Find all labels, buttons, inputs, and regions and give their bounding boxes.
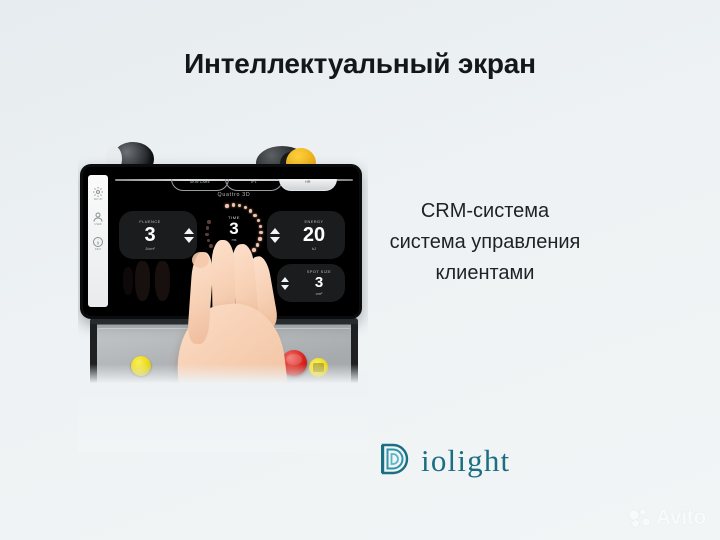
fluence-stepper[interactable] xyxy=(181,228,197,243)
dial-dot xyxy=(232,203,235,206)
screen-sidebar: SETUP USER INFO xyxy=(88,175,108,307)
info-icon[interactable]: INFO xyxy=(92,236,104,248)
page-title: Интеллектуальный экран xyxy=(0,48,720,80)
tab-skin-care[interactable]: SKIN CARE xyxy=(171,179,229,191)
user-icon-label: USER xyxy=(94,223,101,226)
photo-fade-bottom xyxy=(78,364,368,452)
chevron-up-icon[interactable] xyxy=(270,228,280,234)
dial-dot xyxy=(225,204,228,207)
brand-wordmark: iolight xyxy=(421,445,510,476)
feature-description: CRM-система система управления клиентами xyxy=(360,196,610,289)
energy-value: 20 xyxy=(283,225,345,245)
fluence-label: FLUENCE xyxy=(119,220,181,224)
time-value: 3 xyxy=(203,220,265,238)
user-icon[interactable]: USER xyxy=(92,211,104,223)
avito-watermark: Avito xyxy=(629,507,706,528)
fluence-value: 3 xyxy=(119,225,181,245)
feature-description-line-2: система управления xyxy=(360,227,610,258)
tab-hr[interactable]: HR xyxy=(279,179,337,191)
mode-title: Quattro 3D xyxy=(111,192,357,198)
time-readout: TIME 3 ms xyxy=(203,215,265,242)
energy-readout: ENERGY 20 kJ xyxy=(283,220,345,251)
dial-dot xyxy=(249,209,252,212)
settings-icon[interactable]: SETUP xyxy=(92,186,104,198)
chevron-down-icon[interactable] xyxy=(270,237,280,243)
fingertip xyxy=(192,252,209,268)
dial-dot xyxy=(258,237,261,240)
chevron-down-icon[interactable] xyxy=(184,237,194,243)
energy-stepper[interactable] xyxy=(267,228,283,243)
screen-tabbar: SKIN CARE IPL HR xyxy=(115,173,353,189)
body-map-left xyxy=(123,267,133,295)
settings-icon-label: SETUP xyxy=(94,198,103,201)
diolight-d-monogram-icon xyxy=(378,440,414,480)
dial-dot xyxy=(244,206,247,209)
dial-dot xyxy=(207,220,210,223)
body-map-leg-1 xyxy=(135,261,150,301)
energy-label: ENERGY xyxy=(283,220,345,224)
dial-dot xyxy=(253,214,256,217)
dial-dot xyxy=(238,204,241,207)
avito-dots-icon xyxy=(629,509,651,527)
fluence-readout: FLUENCE 3 J/cm² xyxy=(119,220,181,251)
chevron-up-icon[interactable] xyxy=(184,228,194,234)
dial-dot xyxy=(205,233,208,236)
time-unit: ms xyxy=(203,238,265,242)
brand-logo: iolight xyxy=(378,440,510,480)
info-icon-label: INFO xyxy=(95,248,101,251)
feature-description-line-3: клиентами xyxy=(360,258,610,289)
dial-dot xyxy=(206,226,209,229)
feature-description-line-1: CRM-система xyxy=(360,196,610,227)
dial-dot xyxy=(256,243,259,246)
device-photo: SETUP USER INFO xyxy=(78,140,368,452)
tab-ipl[interactable]: IPL xyxy=(225,179,283,191)
avito-wordmark: Avito xyxy=(656,507,706,528)
